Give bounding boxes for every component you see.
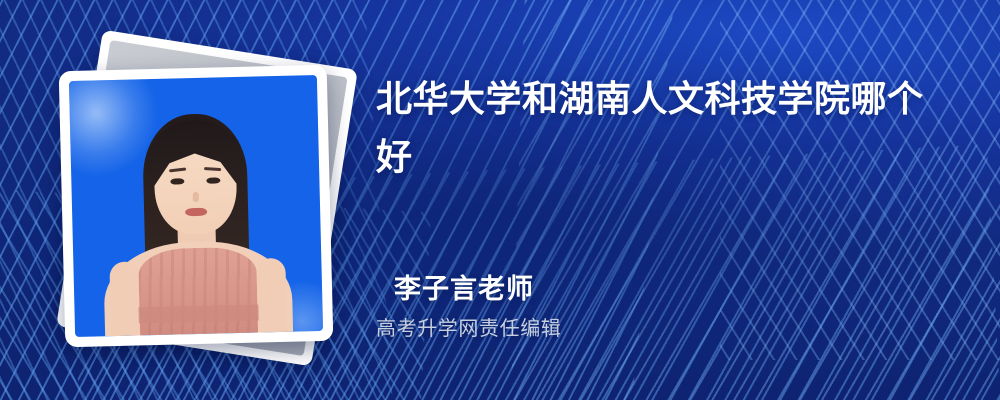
author-role: 高考升学网责任编辑	[376, 316, 796, 342]
banner-text-block: 北华大学和湖南人文科技学院哪个好 李子言老师 高考升学网责任编辑	[376, 0, 976, 400]
photo-card-front	[59, 65, 334, 347]
portrait-eye-left	[170, 178, 184, 184]
portrait-nose	[193, 192, 199, 202]
article-banner: 北华大学和湖南人文科技学院哪个好 李子言老师 高考升学网责任编辑	[0, 0, 1000, 400]
author-block: 李子言老师 高考升学网责任编辑	[376, 272, 796, 342]
portrait-arm-left	[109, 261, 141, 336]
portrait-dress-waistband	[138, 305, 258, 324]
author-portrait-photo	[69, 75, 323, 337]
photo-card-stack	[40, 28, 370, 368]
article-title: 北华大学和湖南人文科技学院哪个好	[376, 70, 956, 186]
portrait-lips	[185, 208, 207, 217]
portrait-arm-right	[255, 258, 287, 333]
portrait-figure	[88, 99, 304, 336]
author-name: 李子言老师	[376, 272, 796, 306]
portrait-eye-right	[206, 177, 220, 183]
